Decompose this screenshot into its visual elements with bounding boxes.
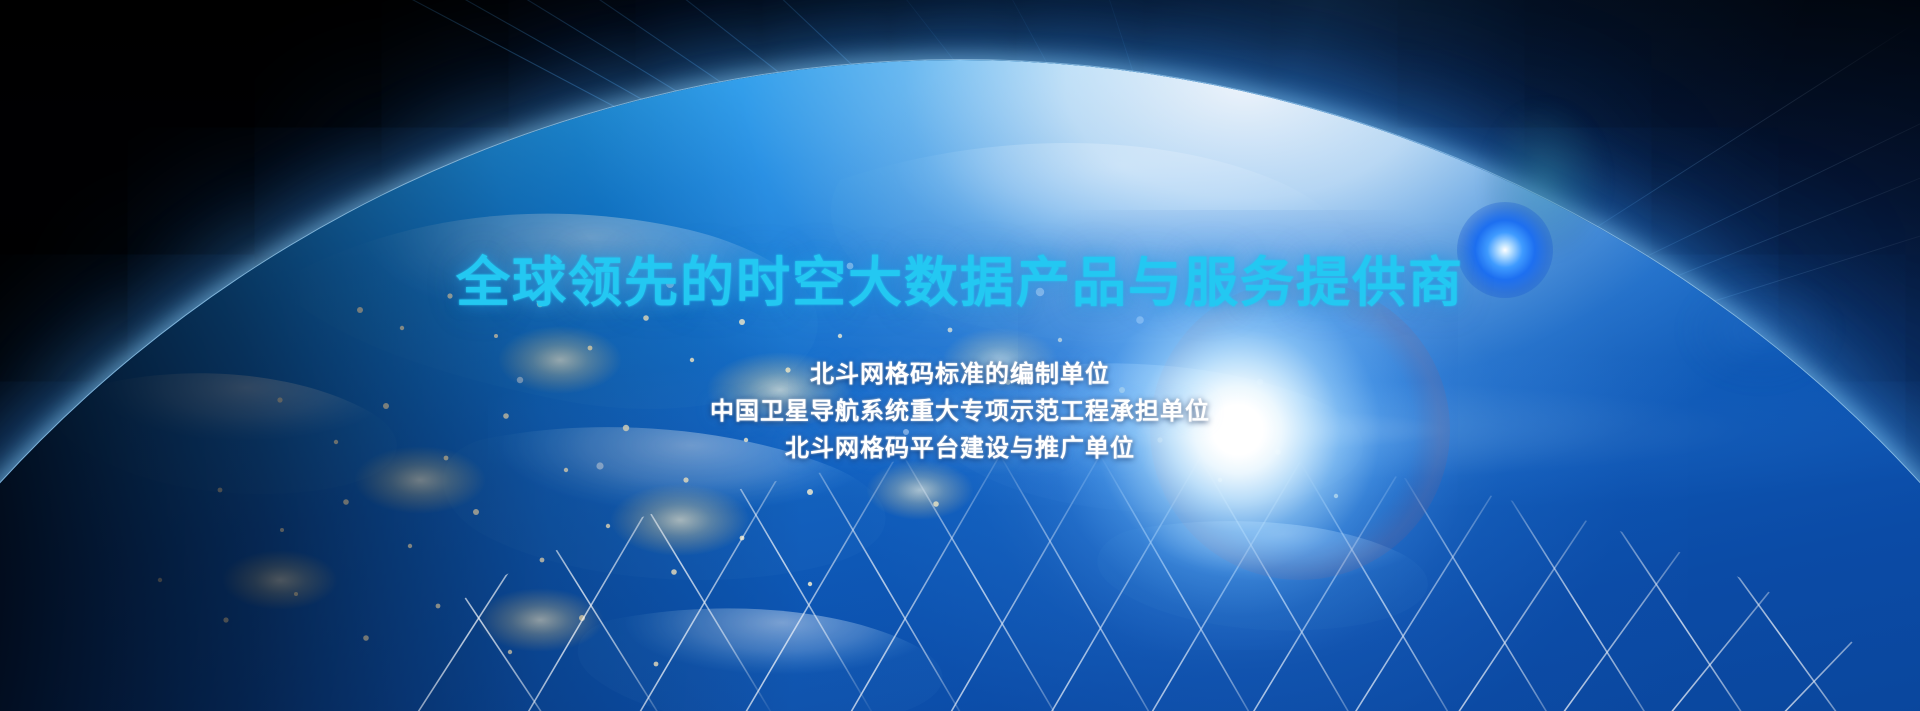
light-ray-lines [0, 0, 1920, 711]
hero-banner: 全球领先的时空大数据产品与服务提供商 北斗网格码标准的编制单位 中国卫星导航系统… [0, 0, 1920, 711]
